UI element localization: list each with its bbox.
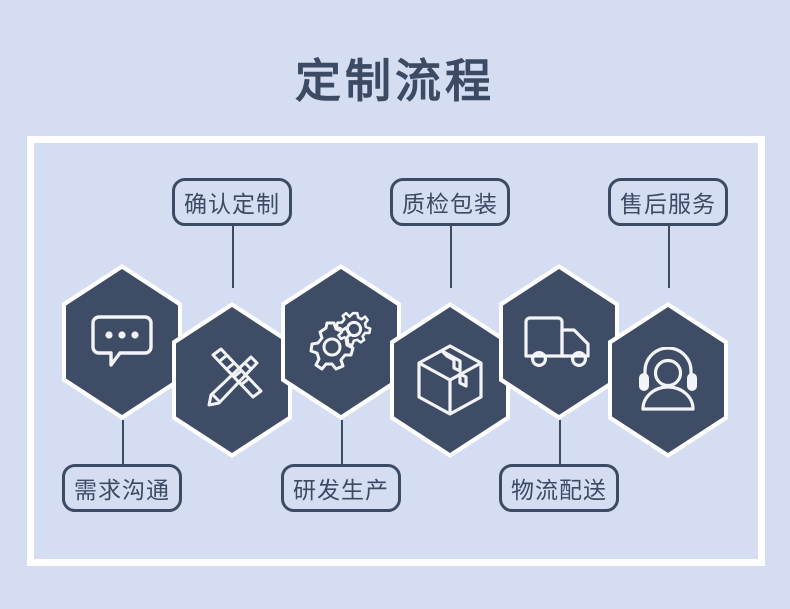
step-label-text: 质检包装 bbox=[402, 185, 498, 219]
step-hexagon-requirement-comm[interactable] bbox=[62, 264, 182, 420]
step-label-confirm-custom[interactable]: 确认定制 bbox=[172, 178, 292, 226]
step-label-text: 研发生产 bbox=[293, 471, 389, 505]
step-label-text: 售后服务 bbox=[620, 185, 716, 219]
chat-bubble-icon bbox=[91, 313, 153, 371]
step-hexagon-after-sales[interactable] bbox=[608, 302, 728, 458]
connector-step-2 bbox=[232, 226, 234, 288]
step-label-rd-production[interactable]: 研发生产 bbox=[281, 464, 401, 512]
step-label-logistics-delivery[interactable]: 物流配送 bbox=[499, 464, 619, 512]
step-label-after-sales[interactable]: 售后服务 bbox=[608, 178, 728, 226]
process-diagram: 定制流程 确认定制 质检包装 售后服务 需求沟通 研发生产 物流配送 bbox=[0, 0, 790, 609]
step-label-requirement-comm[interactable]: 需求沟通 bbox=[62, 464, 182, 512]
delivery-truck-icon bbox=[522, 314, 596, 370]
step-label-qc-packaging[interactable]: 质检包装 bbox=[390, 178, 510, 226]
page-title: 定制流程 bbox=[0, 58, 790, 104]
step-label-text: 物流配送 bbox=[511, 471, 607, 505]
package-box-icon bbox=[416, 344, 484, 416]
step-hexagon-qc-packaging[interactable] bbox=[390, 302, 510, 458]
connector-step-6 bbox=[668, 226, 670, 288]
pencil-ruler-icon bbox=[199, 347, 265, 413]
headset-support-icon bbox=[633, 347, 703, 413]
step-hexagon-confirm-custom[interactable] bbox=[172, 302, 292, 458]
step-label-text: 确认定制 bbox=[184, 185, 280, 219]
connector-step-4 bbox=[450, 226, 452, 288]
step-hexagon-logistics-delivery[interactable] bbox=[499, 264, 619, 420]
gears-icon bbox=[306, 309, 376, 375]
step-hexagon-rd-production[interactable] bbox=[281, 264, 401, 420]
step-label-text: 需求沟通 bbox=[74, 471, 170, 505]
